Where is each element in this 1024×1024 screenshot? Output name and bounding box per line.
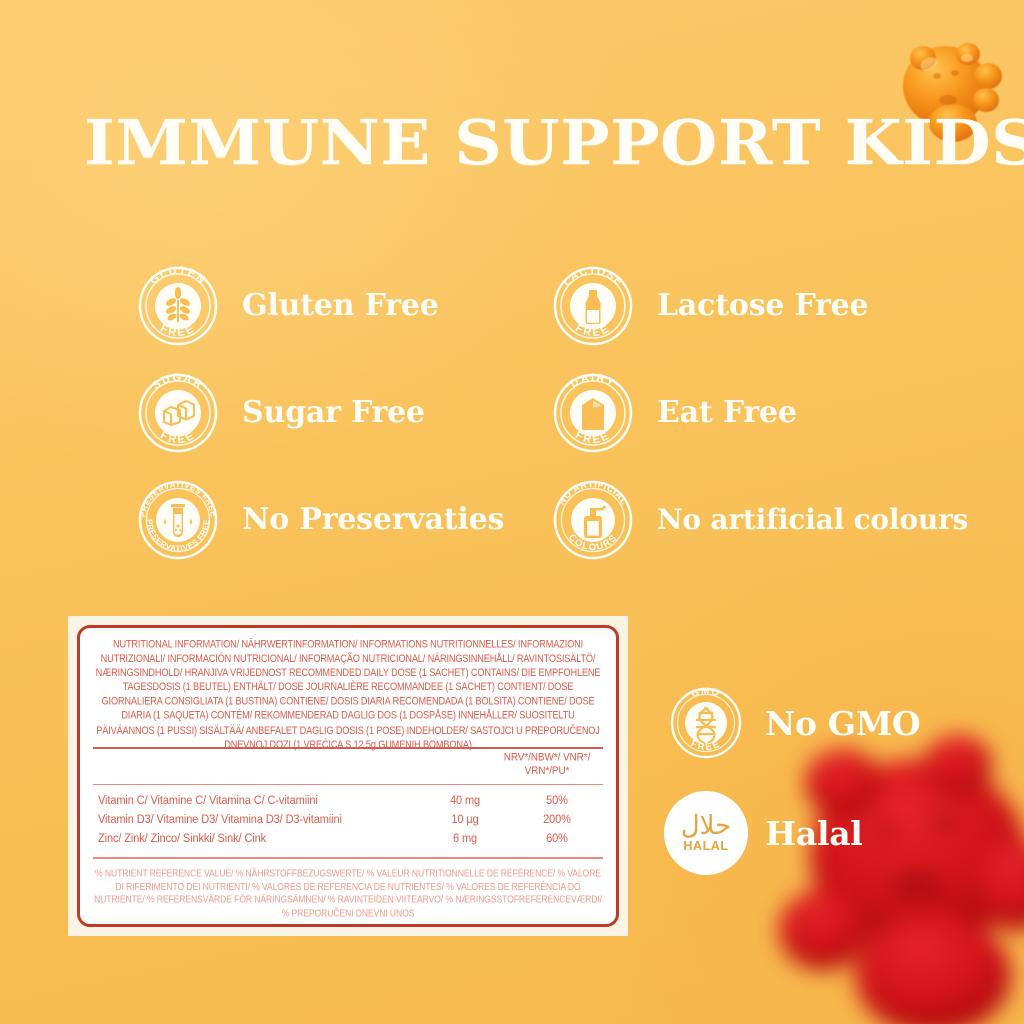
claim-label: Eat Free <box>657 397 797 429</box>
claim-no-artificial-colours: NO ARTIFICIAL COLOURS No artificial colo… <box>547 474 977 566</box>
svg-text:SUGAR: SUGAR <box>150 371 205 391</box>
claim-dairy-free: DAIRY FREE Eat Free <box>547 367 977 459</box>
nrv-header-text: NRV*/NBW*/ VNR*/ VRN*/PU* <box>491 751 603 778</box>
gmo-free-icon: GMO FREE <box>664 681 748 765</box>
table-row: Vitamin C/ Vitamine C/ Vitamina C/ C-vit… <box>93 792 603 811</box>
certification-label: No GMO <box>765 704 920 743</box>
no-artificial-colours-icon: NO ARTIFICIAL COLOURS <box>547 474 639 566</box>
claim-no-preservatives: PRESERVATIVES FREE PRESERVATIVES FREE No… <box>132 474 547 566</box>
page-title: IMMUNE SUPPORT KIDS <box>84 112 1017 174</box>
svg-text:GMO: GMO <box>690 686 722 700</box>
sugar-free-icon: SUGAR FREE <box>132 367 224 459</box>
nutrition-information-panel: NUTRITIONAL INFORMATION/ NÄHRWERTINFORMA… <box>68 616 628 936</box>
certification-no-gmo: GMO FREE No GMO <box>664 668 1020 778</box>
certification-halal: حلال HALAL Halal <box>664 778 1020 888</box>
claims-row: SUGAR FREE Sugar Free <box>132 359 1000 466</box>
nutrition-table: NUTRITIONAL INFORMATION/ NÄHRWERTINFORMA… <box>77 625 619 927</box>
lactose-free-icon: LACTOSE FREE <box>547 260 639 352</box>
halal-icon: حلال HALAL <box>664 791 748 875</box>
claim-label: Lactose Free <box>657 290 868 322</box>
claim-label: Gluten Free <box>242 290 439 322</box>
claim-lactose-free: LACTOSE FREE Lactose Free <box>547 260 977 352</box>
nutrition-footnote: % NUTRIENT REFERENCE VALUE/ % NÄHRSTOFFB… <box>93 859 603 920</box>
halal-latin-text: HALAL <box>683 840 728 853</box>
gluten-free-icon: GLUTEN FREE <box>132 260 224 352</box>
nutrient-name: Zinc/ Zink/ Zinco/ Sinkki/ Sink/ Cink <box>93 829 419 850</box>
preservatives-free-icon: PRESERVATIVES FREE PRESERVATIVES FREE <box>132 474 224 566</box>
nutrition-heading: NUTRITIONAL INFORMATION/ NÄHRWERTINFORMA… <box>93 637 603 764</box>
table-row: Vitamin D3/ Vitamine D3/ Vitamina D3/ D3… <box>93 811 603 830</box>
claim-label: Sugar Free <box>242 397 425 429</box>
svg-text:DAIRY: DAIRY <box>568 371 617 389</box>
product-infographic: IMMUNE SUPPORT KIDS <box>0 0 1024 1024</box>
claims-row: PRESERVATIVES FREE PRESERVATIVES FREE No… <box>132 466 1000 573</box>
dairy-free-icon: DAIRY FREE <box>547 367 639 459</box>
claim-label: No artificial colours <box>657 505 968 534</box>
nutrition-rows: Vitamin C/ Vitamine C/ Vitamina C/ C-vit… <box>93 785 603 855</box>
claim-gluten-free: GLUTEN FREE Gluten Free <box>132 260 547 352</box>
claim-sugar-free: SUGAR FREE Sugar Free <box>132 367 547 459</box>
halal-arabic-text: حلال <box>681 813 731 839</box>
claims-grid: GLUTEN FREE Gluten Free <box>132 252 1000 573</box>
table-row: Zinc/ Zink/ Zinco/ Sinkki/ Sink/ Cink 6 … <box>93 830 603 849</box>
certification-label: Halal <box>765 814 863 853</box>
claims-row: GLUTEN FREE Gluten Free <box>132 252 1000 359</box>
nutrient-amount: 6 mg <box>419 829 511 850</box>
certifications-list: GMO FREE No GMO حلال HALAL Halal <box>664 668 1020 888</box>
claim-label: No Preservaties <box>242 504 504 536</box>
nutrient-nrv: 60% <box>511 829 603 850</box>
